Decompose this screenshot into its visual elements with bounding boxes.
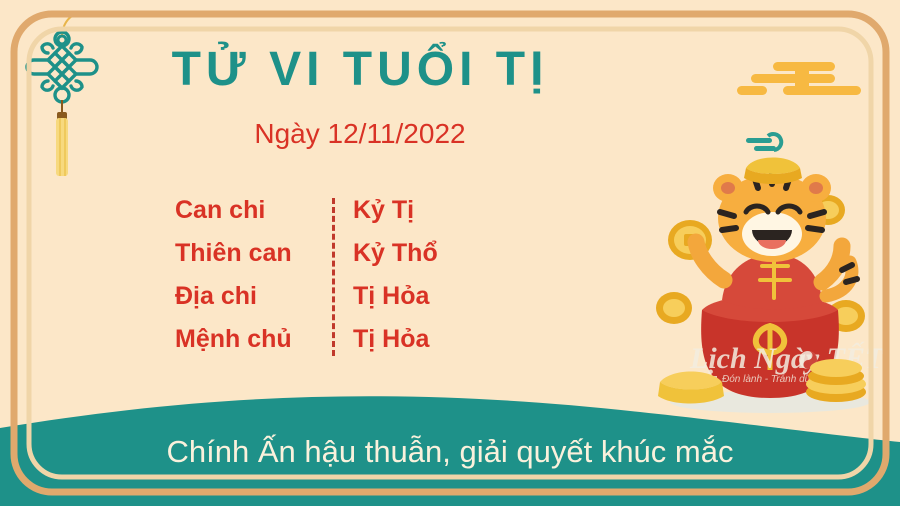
table-row: Mệnh chủ Tị Hỏa bbox=[175, 325, 438, 368]
row-label: Can chi bbox=[175, 196, 325, 225]
table-row: Địa chi Tị Hỏa bbox=[175, 282, 438, 325]
row-label: Mệnh chủ bbox=[175, 325, 325, 354]
row-label: Địa chi bbox=[175, 282, 325, 311]
info-table: Can chi Kỷ Tị Thiên can Kỷ Thổ Địa chi T… bbox=[175, 196, 438, 368]
table-row: Thiên can Kỷ Thổ bbox=[175, 239, 438, 282]
gold-cloud-icon bbox=[735, 50, 865, 110]
svg-text:Đón lành - Tránh dữ: Đón lành - Tránh dữ bbox=[722, 374, 812, 385]
row-value: Tị Hỏa bbox=[353, 325, 429, 354]
row-value: Tị Hỏa bbox=[353, 282, 429, 311]
horoscope-card: Lịch Ngày TẾT Đón lành - Tránh dữ TỬ VI … bbox=[0, 0, 900, 506]
row-value: Kỷ Tị bbox=[353, 196, 414, 225]
tiger-money-bag-icon: Lịch Ngày TẾT Đón lành - Tránh dữ bbox=[650, 130, 900, 420]
row-value: Kỷ Thổ bbox=[353, 239, 438, 268]
table-row: Can chi Kỷ Tị bbox=[175, 196, 438, 239]
page-title: TỬ VI TUỔI TỊ bbox=[0, 42, 720, 97]
row-label: Thiên can bbox=[175, 239, 325, 268]
chinese-knot-icon bbox=[22, 8, 122, 188]
banner-message: Chính Ấn hậu thuẫn, giải quyết khúc mắc bbox=[0, 434, 900, 470]
date-line: Ngày 12/11/2022 bbox=[0, 118, 720, 150]
